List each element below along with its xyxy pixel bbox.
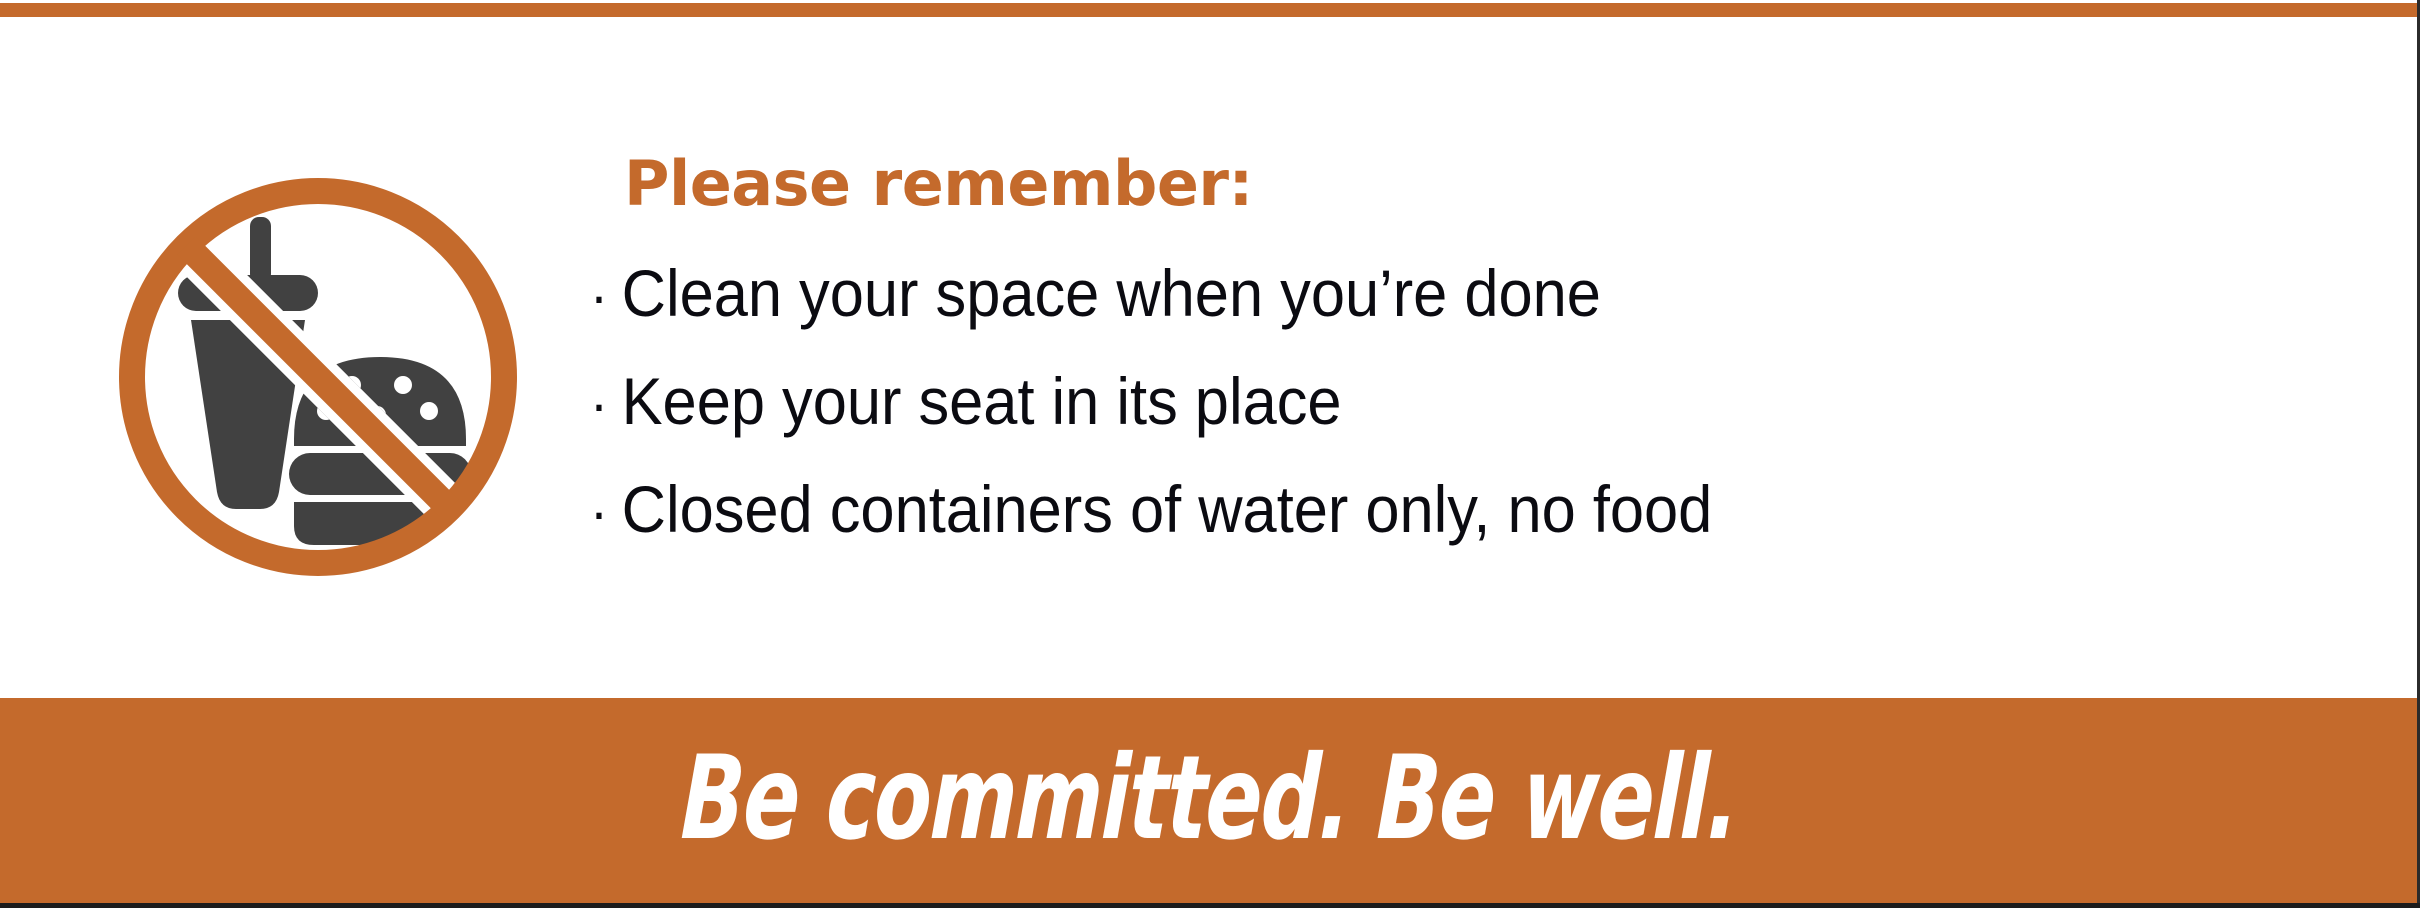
main-content-area: Please remember: · Clean your space when… — [0, 17, 2420, 698]
bullet-dot-icon: · — [590, 245, 622, 349]
frame-edge-bottom — [0, 903, 2420, 908]
bullet-dot-icon: · — [590, 461, 622, 565]
list-item-label: Closed containers of water only, no food — [622, 457, 1713, 561]
list-item-label: Keep your seat in its place — [622, 349, 1342, 453]
list-item: · Closed containers of water only, no fo… — [590, 457, 2227, 565]
notice-bullet-list: · Clean your space when you’re done · Ke… — [590, 241, 2350, 565]
top-accent-rule — [0, 3, 2420, 17]
bullet-dot-icon: · — [590, 353, 622, 457]
poster-root: Please remember: · Clean your space when… — [0, 0, 2420, 908]
list-item: · Keep your seat in its place — [590, 349, 2227, 457]
list-item-label: Clean your space when you’re done — [622, 241, 1601, 345]
no-food-or-drink-icon — [98, 157, 538, 597]
notice-text-block: Please remember: · Clean your space when… — [590, 145, 2350, 565]
tagline-text: Be committed. Be well. — [679, 739, 1740, 859]
list-item: · Clean your space when you’re done — [590, 241, 2227, 349]
tagline-banner: Be committed. Be well. — [0, 698, 2420, 903]
notice-heading: Please remember: — [624, 145, 2350, 223]
